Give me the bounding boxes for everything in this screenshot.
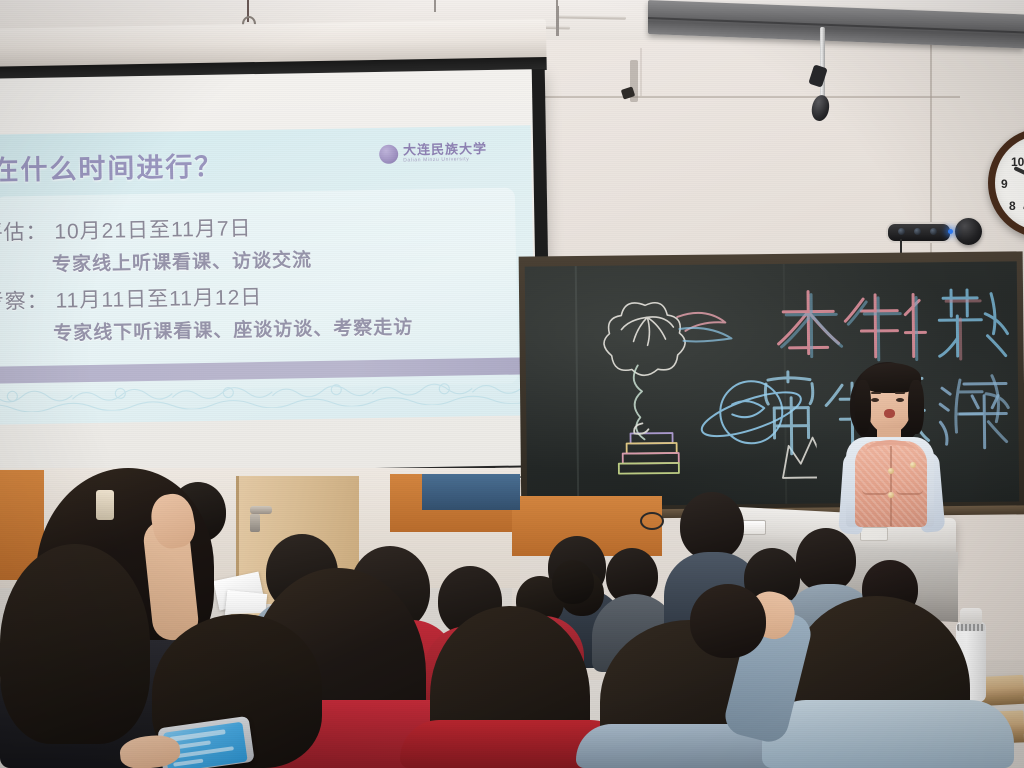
- podium-label-badge: [860, 527, 888, 541]
- teacher-brow-right: [895, 392, 905, 394]
- teacher-vest-button-1: [888, 468, 894, 474]
- teacher-mouth: [884, 409, 895, 418]
- teacher-vest-pocket-left: [862, 478, 889, 495]
- ceiling-bracket-stem: [556, 6, 559, 36]
- microphone-stem: [820, 27, 825, 99]
- teacher-hair-side-right: [908, 380, 924, 434]
- camera-lens-b: [914, 228, 921, 235]
- clock-number-8: 8: [1009, 199, 1016, 213]
- slide-title: 估在什么时间进行？: [0, 145, 224, 189]
- logo-name-cn: 大连民族大学: [403, 142, 487, 156]
- rail-groove: [648, 17, 1024, 33]
- slide-line-2-value: 11月11日至11月12日: [55, 286, 262, 313]
- slide-subline-2: 专家线下听课看课、座谈访谈、考察走访: [53, 310, 536, 345]
- teacher-vest-button-2: [888, 492, 894, 498]
- ceiling-wire-b: [434, 0, 436, 12]
- blackboard-seam-b: [783, 264, 788, 504]
- slide-body: 核评估： 10月21日至11月7日 专家线上听课看课、访谈交流 校考察： 11月…: [0, 207, 536, 355]
- teacher-vest-brooch: [910, 462, 916, 468]
- back-wall-blue-panel: [422, 474, 520, 510]
- screen-surface: 估在什么时间进行？ 大连民族大学 Dalian Minzu University…: [0, 69, 552, 489]
- wall-seam-vertical-b: [640, 48, 642, 96]
- teacher-vest-seam: [890, 446, 892, 526]
- teacher-eye-left: [871, 398, 879, 402]
- slide-wave-pattern: [0, 361, 536, 413]
- classroom-scene: 10 9 8 11 估在什么时间进行？ 大连民族大学 Dalian Min: [0, 0, 1024, 768]
- student-hair-clip: [96, 490, 114, 520]
- teacher-hair-side-left: [855, 380, 871, 434]
- student-head: [690, 584, 766, 658]
- camera-lens: [898, 228, 905, 235]
- circle-seal-icon: [379, 144, 398, 163]
- speaker-led-indicator: [948, 229, 953, 234]
- clock-number-9: 9: [1001, 177, 1008, 191]
- teacher-brow-left: [871, 392, 881, 394]
- logo-name-en: Dalian Minzu University: [403, 157, 487, 163]
- wall-seam-horizontal: [512, 96, 960, 98]
- phone-ui-row: [170, 729, 226, 742]
- slide-line-2: 校考察： 11月11日至11月12日: [0, 276, 536, 316]
- student-glasses: [640, 512, 664, 530]
- speaker-icon: [955, 218, 982, 245]
- presentation-slide: 估在什么时间进行？ 大连民族大学 Dalian Minzu University…: [0, 125, 536, 425]
- slide-line-1-lead: 核评估：: [0, 221, 48, 246]
- slide-subline-1: 专家线上听课看课、访谈交流: [52, 241, 535, 276]
- student-head-foreground: [0, 544, 150, 744]
- student-body-foreground: [762, 700, 1014, 768]
- blackboard-frame: [519, 251, 1024, 518]
- chalk-text-row-2-tail: [946, 365, 1019, 462]
- blackboard-seam: [575, 266, 580, 506]
- student-head: [796, 528, 856, 592]
- blackboard-surface: [525, 261, 1019, 506]
- teacher-vest-pocket-right: [896, 478, 923, 495]
- teacher-eye-right: [896, 398, 904, 402]
- university-logo: 大连民族大学 Dalian Minzu University: [379, 142, 487, 164]
- projection-screen: 估在什么时间进行？ 大连民族大学 Dalian Minzu University…: [0, 19, 554, 499]
- thermos-bottle-ring: [957, 624, 985, 631]
- student-head: [552, 560, 594, 604]
- door-lock-plate: [250, 514, 260, 532]
- student-head: [680, 492, 744, 560]
- slide-line-1-value: 10月21日至11月7日: [54, 217, 252, 243]
- slide-line-2-lead: 校考察：: [0, 290, 49, 315]
- phone-ui-row: [173, 759, 203, 767]
- door-handle[interactable]: [250, 506, 272, 514]
- camera-lens-c: [930, 228, 937, 235]
- logo-text-block: 大连民族大学 Dalian Minzu University: [403, 142, 487, 163]
